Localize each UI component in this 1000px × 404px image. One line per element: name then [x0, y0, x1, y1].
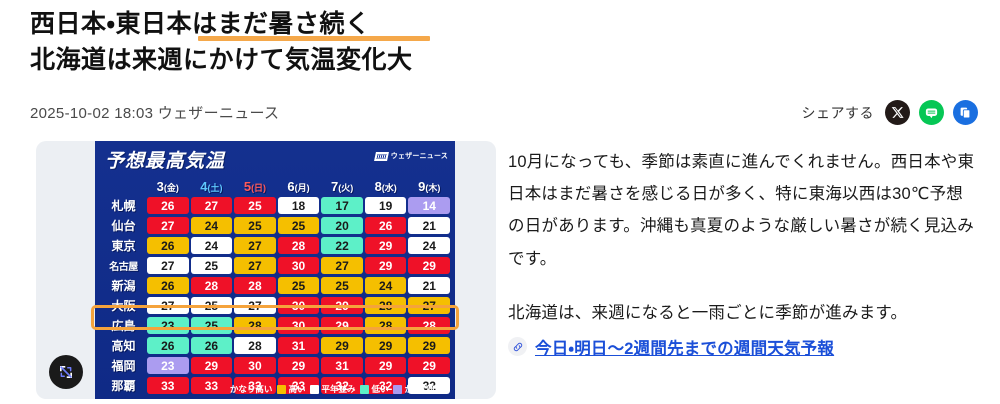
legend-label: 高い: [288, 383, 305, 395]
legend-label: 低い: [371, 383, 388, 395]
forecast-temp-cell: 29: [365, 257, 407, 274]
date-dow: (水): [382, 183, 397, 193]
forecast-temp-cell: 25: [234, 197, 276, 214]
title-underline: [198, 36, 430, 41]
forecast-temp-cell: 31: [321, 357, 363, 374]
forecast-temp-cell: 29: [321, 337, 363, 354]
forecast-city-label: 東京: [100, 237, 147, 254]
share-copy-button[interactable]: [953, 100, 978, 125]
forecast-city-label: 新潟: [100, 277, 147, 294]
forecast-temp-cell: 30: [234, 357, 276, 374]
forecast-temp-cell: 28: [278, 237, 320, 254]
forecast-temp-cell: 27: [234, 257, 276, 274]
forecast-temp-cell: 24: [365, 277, 407, 294]
legend-swatch: [310, 385, 319, 394]
date-dow: (日): [251, 183, 266, 193]
forecast-temp-cell: 25: [278, 217, 320, 234]
table-row: 札幌26272518171914: [100, 196, 450, 215]
forecast-temp-cell: 30: [278, 317, 320, 334]
weathernews-mark-icon: [374, 152, 389, 161]
table-row: 広島23252830292828: [100, 316, 450, 335]
forecast-city-label: 広島: [100, 317, 147, 334]
forecast-legend: かなり高い高い平年並み低いかなり低い: [95, 383, 455, 395]
title-line-1: 西日本・東日本はまだ暑さ続く: [30, 6, 371, 42]
date-number: 6: [287, 179, 294, 194]
forecast-value-cells: 26242728222924: [147, 237, 450, 254]
table-row: 新潟26282825252421: [100, 276, 450, 295]
date-dow: (月): [295, 183, 310, 193]
forecast-temp-cell: 29: [408, 357, 450, 374]
forecast-temp-cell: 21: [408, 217, 450, 234]
forecast-temp-cell: 19: [365, 197, 407, 214]
forecast-value-cells: 27242525202621: [147, 217, 450, 234]
forecast-temp-cell: 27: [234, 237, 276, 254]
forecast-date-header-6: 6(月): [278, 179, 320, 194]
forecast-temp-cell: 23: [147, 357, 189, 374]
legend-swatch: [393, 385, 402, 394]
forecast-temp-cell: 17: [321, 197, 363, 214]
forecast-temp-cell: 29: [365, 337, 407, 354]
forecast-city-label: 福岡: [100, 357, 147, 374]
legend-label: 平年並み: [321, 383, 355, 395]
forecast-temp-cell: 26: [147, 197, 189, 214]
related-link-row[interactable]: 今日・明日～2週間先までの週間天気予報: [508, 335, 978, 359]
paragraph-2: 北海道は、来週になると一雨ごとに季節が進みます。: [508, 297, 978, 329]
forecast-city-label: 仙台: [100, 217, 147, 234]
forecast-temp-cell: 14: [408, 197, 450, 214]
forecast-header-row: 3(金)4(土)5(日)6(月)7(火)8(水)9(木): [100, 177, 450, 195]
forecast-rows: 札幌26272518171914仙台27242525202621東京262427…: [100, 196, 450, 395]
forecast-city-label: 大阪: [100, 297, 147, 314]
forecast-date-header-4: 4(土): [191, 179, 233, 194]
forecast-date-header-7: 7(火): [321, 179, 363, 194]
forecast-temp-cell: 23: [147, 317, 189, 334]
forecast-temp-cell: 27: [147, 257, 189, 274]
share-label: シェアする: [802, 103, 875, 123]
forecast-city-label: 高知: [100, 337, 147, 354]
page-title: 西日本・東日本はまだ暑さ続く 北海道は来週にかけて気温変化大: [30, 6, 670, 78]
legend-label: かなり低い: [404, 383, 447, 395]
legend-item: 平年並み: [310, 383, 355, 395]
forecast-temp-cell: 27: [408, 297, 450, 314]
forecast-temp-cell: 28: [234, 277, 276, 294]
legend-item: 低い: [360, 383, 388, 395]
forecast-value-cells: 23252830292828: [147, 317, 450, 334]
table-row: 高知26262831292929: [100, 336, 450, 355]
legend-swatch: [360, 385, 369, 394]
related-link[interactable]: 今日・明日～2週間先までの週間天気予報: [535, 335, 834, 359]
forecast-temp-cell: 26: [365, 217, 407, 234]
forecast-date-header-5: 5(日): [234, 179, 276, 194]
forecast-temp-cell: 25: [321, 277, 363, 294]
table-row: 名古屋27252730272929: [100, 256, 450, 275]
share-line-button[interactable]: [919, 100, 944, 125]
date-number: 3: [157, 179, 164, 194]
line-icon: [924, 105, 939, 120]
weathernews-logo: ウェザーニュース: [375, 151, 448, 161]
forecast-temp-cell: 22: [321, 237, 363, 254]
forecast-temp-cell: 30: [278, 297, 320, 314]
forecast-value-cells: 26282825252421: [147, 277, 450, 294]
forecast-date-header-3: 3(金): [147, 179, 189, 194]
forecast-temp-cell: 29: [321, 297, 363, 314]
forecast-temp-cell: 27: [147, 217, 189, 234]
forecast-date-header-9: 9(木): [408, 179, 450, 194]
date-dow: (木): [425, 183, 440, 193]
forecast-grid: 3(金)4(土)5(日)6(月)7(火)8(水)9(木) 札幌262725181…: [100, 177, 450, 396]
forecast-temp-cell: 25: [191, 297, 233, 314]
forecast-temp-cell: 25: [191, 317, 233, 334]
table-row: 福岡23293029312929: [100, 356, 450, 375]
forecast-temp-cell: 31: [278, 337, 320, 354]
forecast-date-headers: 3(金)4(土)5(日)6(月)7(火)8(水)9(木): [147, 179, 450, 194]
byline: 2025-10-02 18:03 ウェザーニュース: [30, 102, 279, 123]
legend-label: かなり高い: [230, 383, 273, 395]
forecast-temp-cell: 27: [191, 197, 233, 214]
forecast-temp-cell: 29: [191, 357, 233, 374]
forecast-temp-cell: 21: [408, 277, 450, 294]
date-dow: (土): [207, 183, 222, 193]
forecast-temp-cell: 28: [365, 297, 407, 314]
forecast-value-cells: 23293029312929: [147, 357, 450, 374]
table-row: 大阪27252730292827: [100, 296, 450, 315]
forecast-temp-cell: 25: [234, 217, 276, 234]
expand-image-button[interactable]: [49, 355, 83, 389]
forecast-temp-cell: 29: [408, 337, 450, 354]
forecast-date-header-8: 8(水): [365, 179, 407, 194]
weathernews-brand-text: ウェザーニュース: [391, 151, 448, 161]
forecast-temp-cell: 29: [365, 237, 407, 254]
expand-icon: [57, 363, 75, 381]
title-line-1-text: 西日本・東日本はまだ暑さ続く: [30, 10, 371, 38]
forecast-temp-cell: 26: [191, 337, 233, 354]
legend-item: 高い: [277, 383, 305, 395]
forecast-value-cells: 27252730272929: [147, 257, 450, 274]
forecast-temp-cell: 29: [321, 317, 363, 334]
forecast-temp-cell: 29: [365, 357, 407, 374]
paragraph-1: 10月になっても、季節は素直に進んでくれません。西日本や東日本はまだ暑さを感じる…: [508, 146, 978, 275]
forecast-temp-cell: 25: [191, 257, 233, 274]
forecast-value-cells: 27252730292827: [147, 297, 450, 314]
x-icon: [891, 106, 904, 119]
forecast-temp-cell: 25: [278, 277, 320, 294]
link-chain-icon: [508, 337, 527, 356]
forecast-value-cells: 26262831292929: [147, 337, 450, 354]
forecast-temp-cell: 20: [321, 217, 363, 234]
forecast-figure[interactable]: 予想最高気温 ウェザーニュース 3(金)4(土)5(日)6(月)7(火)8(水)…: [36, 141, 496, 399]
table-row: 仙台27242525202621: [100, 216, 450, 235]
date-number: 5: [244, 179, 251, 194]
forecast-temp-cell: 28: [234, 337, 276, 354]
forecast-temp-cell: 27: [147, 297, 189, 314]
share-bar: シェアする: [802, 100, 979, 125]
date-number: 8: [375, 179, 382, 194]
forecast-temp-cell: 24: [408, 237, 450, 254]
date-dow: (火): [338, 183, 353, 193]
forecast-temp-cell: 18: [278, 197, 320, 214]
title-line-2: 北海道は来週にかけて気温変化大: [30, 42, 670, 78]
forecast-temp-cell: 24: [191, 217, 233, 234]
forecast-temp-cell: 30: [278, 257, 320, 274]
article-page: 西日本・東日本はまだ暑さ続く 北海道は来週にかけて気温変化大 2025-10-0…: [0, 0, 1000, 404]
legend-swatch: [219, 385, 228, 394]
forecast-table-title: 予想最高気温: [105, 146, 225, 173]
forecast-table: 予想最高気温 ウェザーニュース 3(金)4(土)5(日)6(月)7(火)8(水)…: [95, 141, 455, 399]
forecast-temp-cell: 27: [321, 257, 363, 274]
forecast-temp-cell: 29: [278, 357, 320, 374]
forecast-value-cells: 26272518171914: [147, 197, 450, 214]
table-row: 東京26242728222924: [100, 236, 450, 255]
forecast-city-label: 名古屋: [100, 258, 147, 273]
forecast-temp-cell: 26: [147, 237, 189, 254]
forecast-temp-cell: 29: [408, 257, 450, 274]
forecast-temp-cell: 27: [234, 297, 276, 314]
legend-item: かなり高い: [219, 383, 273, 395]
forecast-temp-cell: 28: [234, 317, 276, 334]
forecast-table-header: 予想最高気温 ウェザーニュース: [95, 141, 455, 181]
legend-item: かなり低い: [393, 383, 447, 395]
forecast-temp-cell: 24: [191, 237, 233, 254]
chain-icon: [512, 341, 524, 353]
forecast-city-label: 札幌: [100, 197, 147, 214]
copy-icon: [959, 106, 972, 119]
share-x-button[interactable]: [885, 100, 910, 125]
forecast-temp-cell: 28: [408, 317, 450, 334]
date-dow: (金): [164, 183, 179, 193]
legend-swatch: [277, 385, 286, 394]
forecast-temp-cell: 26: [147, 337, 189, 354]
article-body: 10月になっても、季節は素直に進んでくれません。西日本や東日本はまだ暑さを感じる…: [508, 146, 978, 359]
forecast-temp-cell: 28: [191, 277, 233, 294]
forecast-temp-cell: 26: [147, 277, 189, 294]
forecast-temp-cell: 28: [365, 317, 407, 334]
